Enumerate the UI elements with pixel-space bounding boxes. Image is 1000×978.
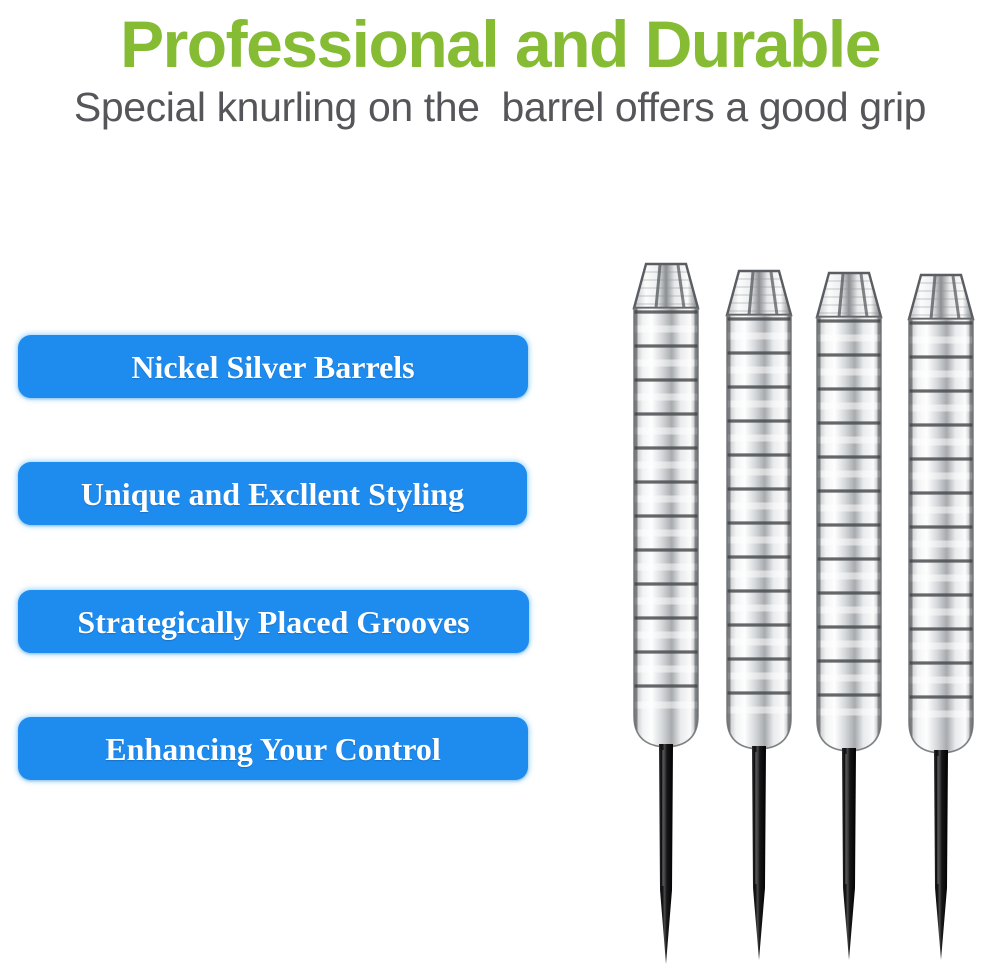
feature-label: Unique and Excllent Styling [81,477,464,511]
header: Professional and Durable Special knurlin… [0,0,1000,150]
feature-label: Nickel Silver Barrels [131,350,414,384]
page-title: Professional and Durable [0,8,1000,80]
feature-list: Nickel Silver Barrels Unique and Excllen… [18,335,538,783]
feature-pill-unique-styling[interactable]: Unique and Excllent Styling [18,462,527,525]
page-subtitle: Special knurling on the barrel offers a … [0,84,1000,130]
feature-pill-nickel-silver-barrels[interactable]: Nickel Silver Barrels [18,335,528,398]
dart-2 [709,250,809,978]
product-image-darts [600,250,1000,978]
dart-4 [891,250,991,978]
feature-label: Enhancing Your Control [105,732,441,766]
dart-1 [616,250,716,978]
feature-pill-enhancing-control[interactable]: Enhancing Your Control [18,717,528,780]
feature-pill-placed-grooves[interactable]: Strategically Placed Grooves [18,590,529,653]
dart-3 [799,250,899,978]
infographic-page: Professional and Durable Special knurlin… [0,0,1000,978]
feature-label: Strategically Placed Grooves [77,605,469,639]
